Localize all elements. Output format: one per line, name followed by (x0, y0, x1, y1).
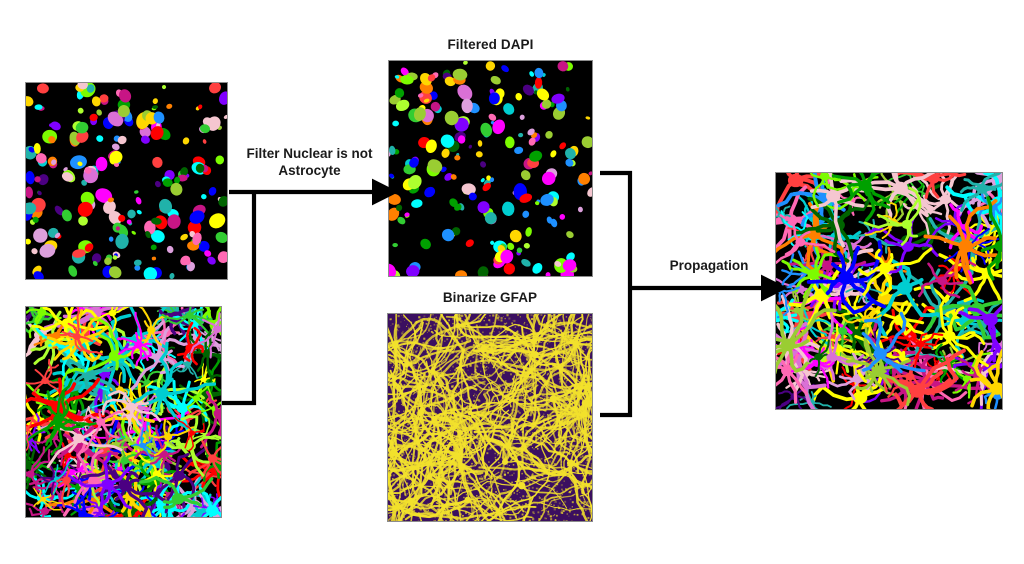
filter-nuclear-arrow (222, 192, 376, 403)
panel-title-binarize-gfap: Binarize GFAP (387, 290, 593, 306)
panel-dapi-input (25, 82, 228, 280)
panel-binarize-gfap (387, 313, 593, 522)
figure-canvas: Filtered DAPI Binarize GFAP Filter Nucle… (0, 0, 1024, 564)
panel-filtered-dapi (388, 60, 593, 277)
panel-title-filtered-dapi: Filtered DAPI (388, 37, 593, 53)
panel-propagation-result (775, 172, 1003, 410)
panel-astrocyte-input (25, 306, 222, 518)
arrow-label-filter-nuclear: Filter Nuclear is not Astrocyte (228, 146, 391, 179)
arrow-label-propagation: Propagation (645, 258, 773, 275)
propagation-arrow (600, 173, 765, 415)
